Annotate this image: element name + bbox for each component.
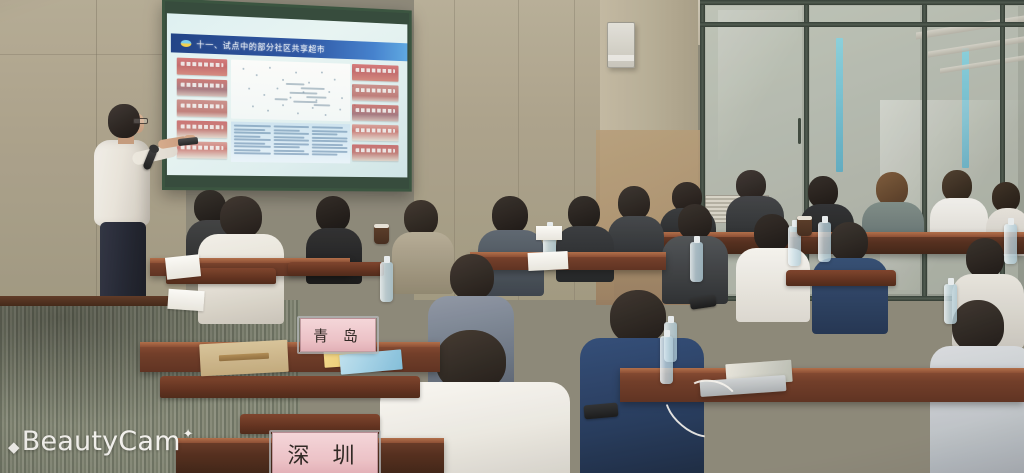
projected-slide: 十一、试点中的部分社区共享超市 bbox=[167, 13, 407, 177]
papers-stack-2 bbox=[167, 289, 204, 311]
glasses-icon bbox=[133, 118, 148, 124]
table-column-3 bbox=[312, 126, 347, 160]
placard-shenzhen: 深 圳 bbox=[272, 432, 378, 473]
community-store-data-table bbox=[231, 122, 350, 164]
slide-body bbox=[177, 58, 402, 165]
table-column-1 bbox=[234, 125, 271, 160]
chair-back-front-1 bbox=[160, 376, 420, 398]
chair-back-3 bbox=[786, 270, 896, 286]
speaker-at-screen bbox=[86, 104, 172, 316]
water-bottle-6 bbox=[944, 284, 957, 324]
kraft-document-envelope bbox=[199, 340, 289, 377]
projection-screen: 十一、试点中的部分社区共享超市 bbox=[162, 0, 412, 192]
community-shop-sign-2 bbox=[177, 78, 227, 96]
china-distribution-map bbox=[231, 60, 350, 122]
watermark-trailing-mark: ✦ bbox=[183, 427, 194, 442]
slide-title-bar: 十一、试点中的部分社区共享超市 bbox=[171, 33, 407, 61]
papers-stack-3 bbox=[528, 251, 569, 271]
water-bottle-3 bbox=[818, 222, 831, 262]
water-bottle-9 bbox=[1004, 224, 1017, 264]
phone-in-hand bbox=[689, 294, 716, 310]
attendee-mid-1 bbox=[608, 186, 664, 262]
water-bottle-1 bbox=[380, 262, 393, 302]
community-shop-sign-7 bbox=[352, 84, 399, 102]
watermark-leading-mark: ◆ bbox=[8, 440, 20, 455]
beautycam-watermark: ◆ BeautyCam ✦ bbox=[8, 426, 194, 457]
community-shop-sign-9 bbox=[352, 124, 399, 141]
coffee-cup-2 bbox=[797, 216, 812, 236]
papers-stack-1 bbox=[165, 254, 201, 279]
slide-title: 十一、试点中的部分社区共享超市 bbox=[196, 38, 325, 55]
community-shop-sign-10 bbox=[352, 144, 399, 161]
papers-stack-4 bbox=[536, 226, 562, 240]
table-column-2 bbox=[273, 125, 309, 160]
phone-on-table-1 bbox=[583, 403, 618, 420]
water-bottle-2 bbox=[690, 242, 703, 282]
globe-icon bbox=[181, 40, 192, 47]
community-shop-sign-1 bbox=[177, 58, 227, 77]
conference-room-photo: 十一、试点中的部分社区共享超市 bbox=[0, 0, 1024, 473]
chair-back-2 bbox=[288, 262, 384, 276]
placard-qingdao: 青 岛 bbox=[300, 318, 376, 352]
coffee-cup-1 bbox=[374, 224, 389, 244]
community-shop-sign-8 bbox=[352, 104, 399, 121]
right-sign-column bbox=[352, 64, 399, 161]
community-shop-sign-6 bbox=[352, 64, 399, 82]
community-shop-sign-3 bbox=[177, 99, 227, 117]
wall-speaker-icon bbox=[607, 22, 635, 68]
water-bottle-8 bbox=[660, 336, 673, 384]
watermark-text: BeautyCam bbox=[22, 426, 181, 457]
